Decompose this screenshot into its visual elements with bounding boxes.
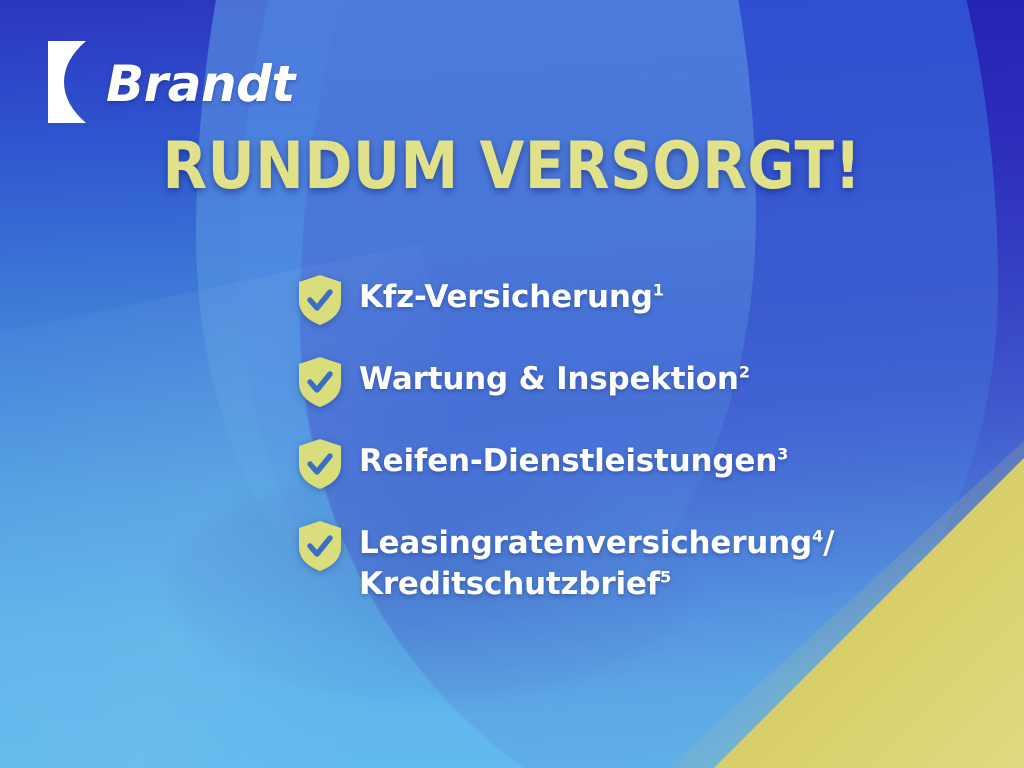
shield-check-icon — [297, 438, 343, 490]
list-item-label: Leasingratenversicherung4/Kreditschutzbr… — [359, 518, 834, 605]
footnote-marker: 1 — [653, 281, 664, 300]
label-separator: / — [823, 525, 834, 561]
benefits-list: Kfz-Versicherung1 Wartung & Inspektion2 … — [297, 272, 977, 633]
promo-banner: Brandt RUNDUM VERSORGT! Kfz-Versicherung… — [0, 0, 1024, 768]
brand-logo: Brandt — [46, 40, 295, 124]
footnote-marker: 4 — [812, 527, 823, 546]
shield-check-icon — [297, 274, 343, 326]
list-item: Wartung & Inspektion2 — [297, 354, 977, 408]
shield-check-icon — [297, 356, 343, 408]
list-item-label: Kfz-Versicherung1 — [359, 272, 664, 318]
footnote-marker: 3 — [777, 445, 788, 464]
list-item: Kfz-Versicherung1 — [297, 272, 977, 326]
brand-name: Brandt — [106, 59, 295, 109]
brandt-bracket-mark-icon — [46, 40, 100, 124]
list-item-label: Reifen-Dienstleistungen3 — [359, 436, 788, 482]
shield-check-icon — [297, 520, 343, 572]
page-title: RUNDUM VERSORGT! — [0, 133, 1024, 198]
list-item: Reifen-Dienstleistungen3 — [297, 436, 977, 490]
footnote-marker: 5 — [660, 568, 671, 587]
list-item-label: Wartung & Inspektion2 — [359, 354, 750, 400]
footnote-marker: 2 — [739, 363, 750, 382]
list-item: Leasingratenversicherung4/Kreditschutzbr… — [297, 518, 977, 605]
